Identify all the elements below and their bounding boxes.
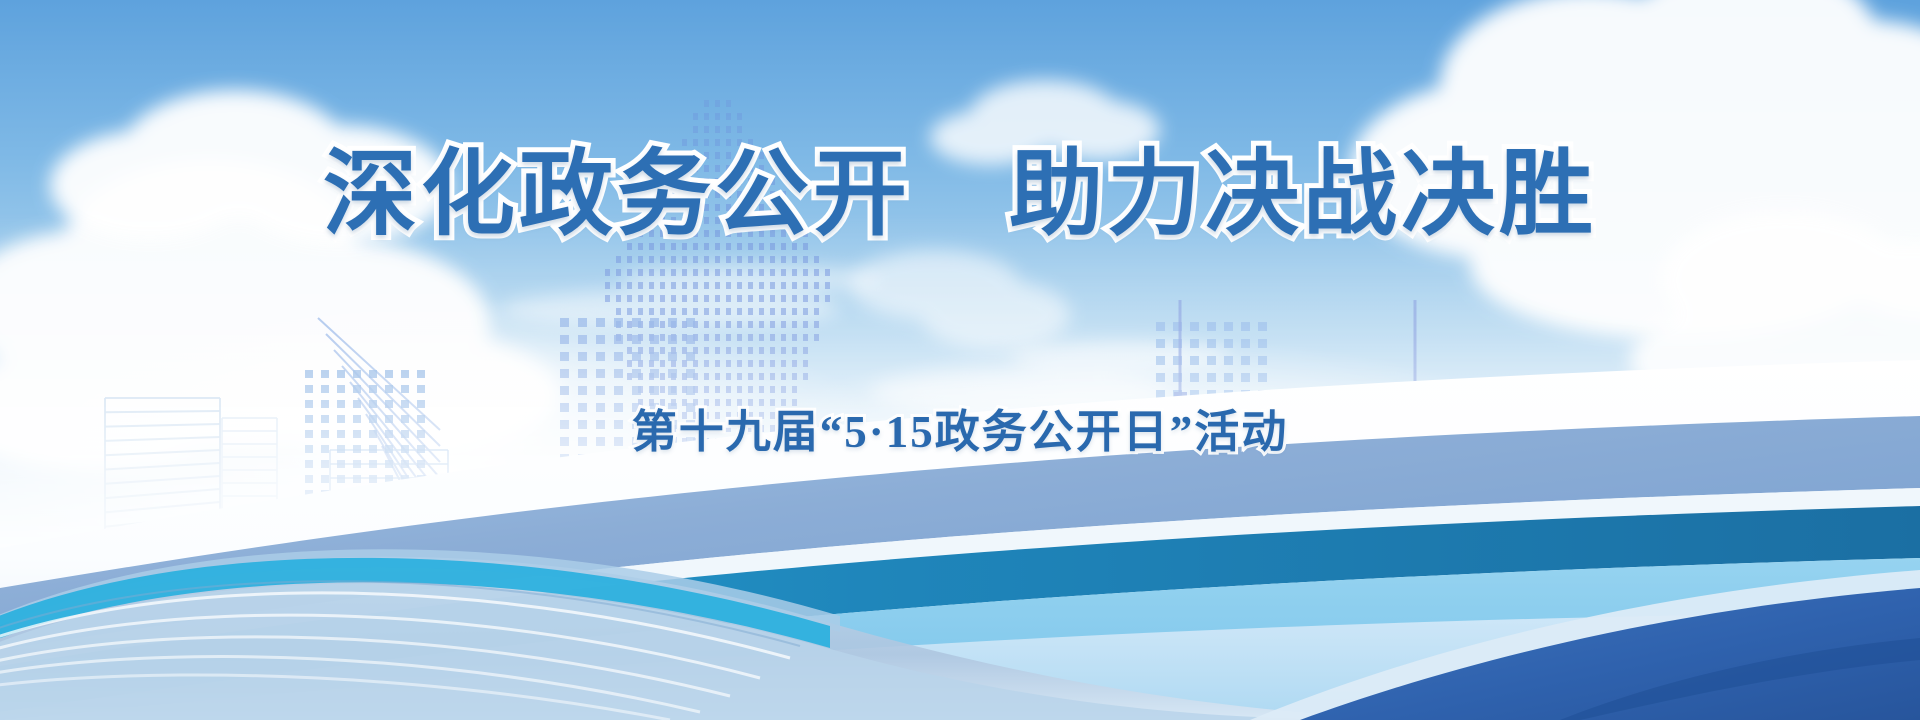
- banner-root: 深化政务公开 助力决战决胜 第十九届“5·15政务公开日”活动: [0, 0, 1920, 720]
- wave-ribbon-icon: [0, 320, 1920, 720]
